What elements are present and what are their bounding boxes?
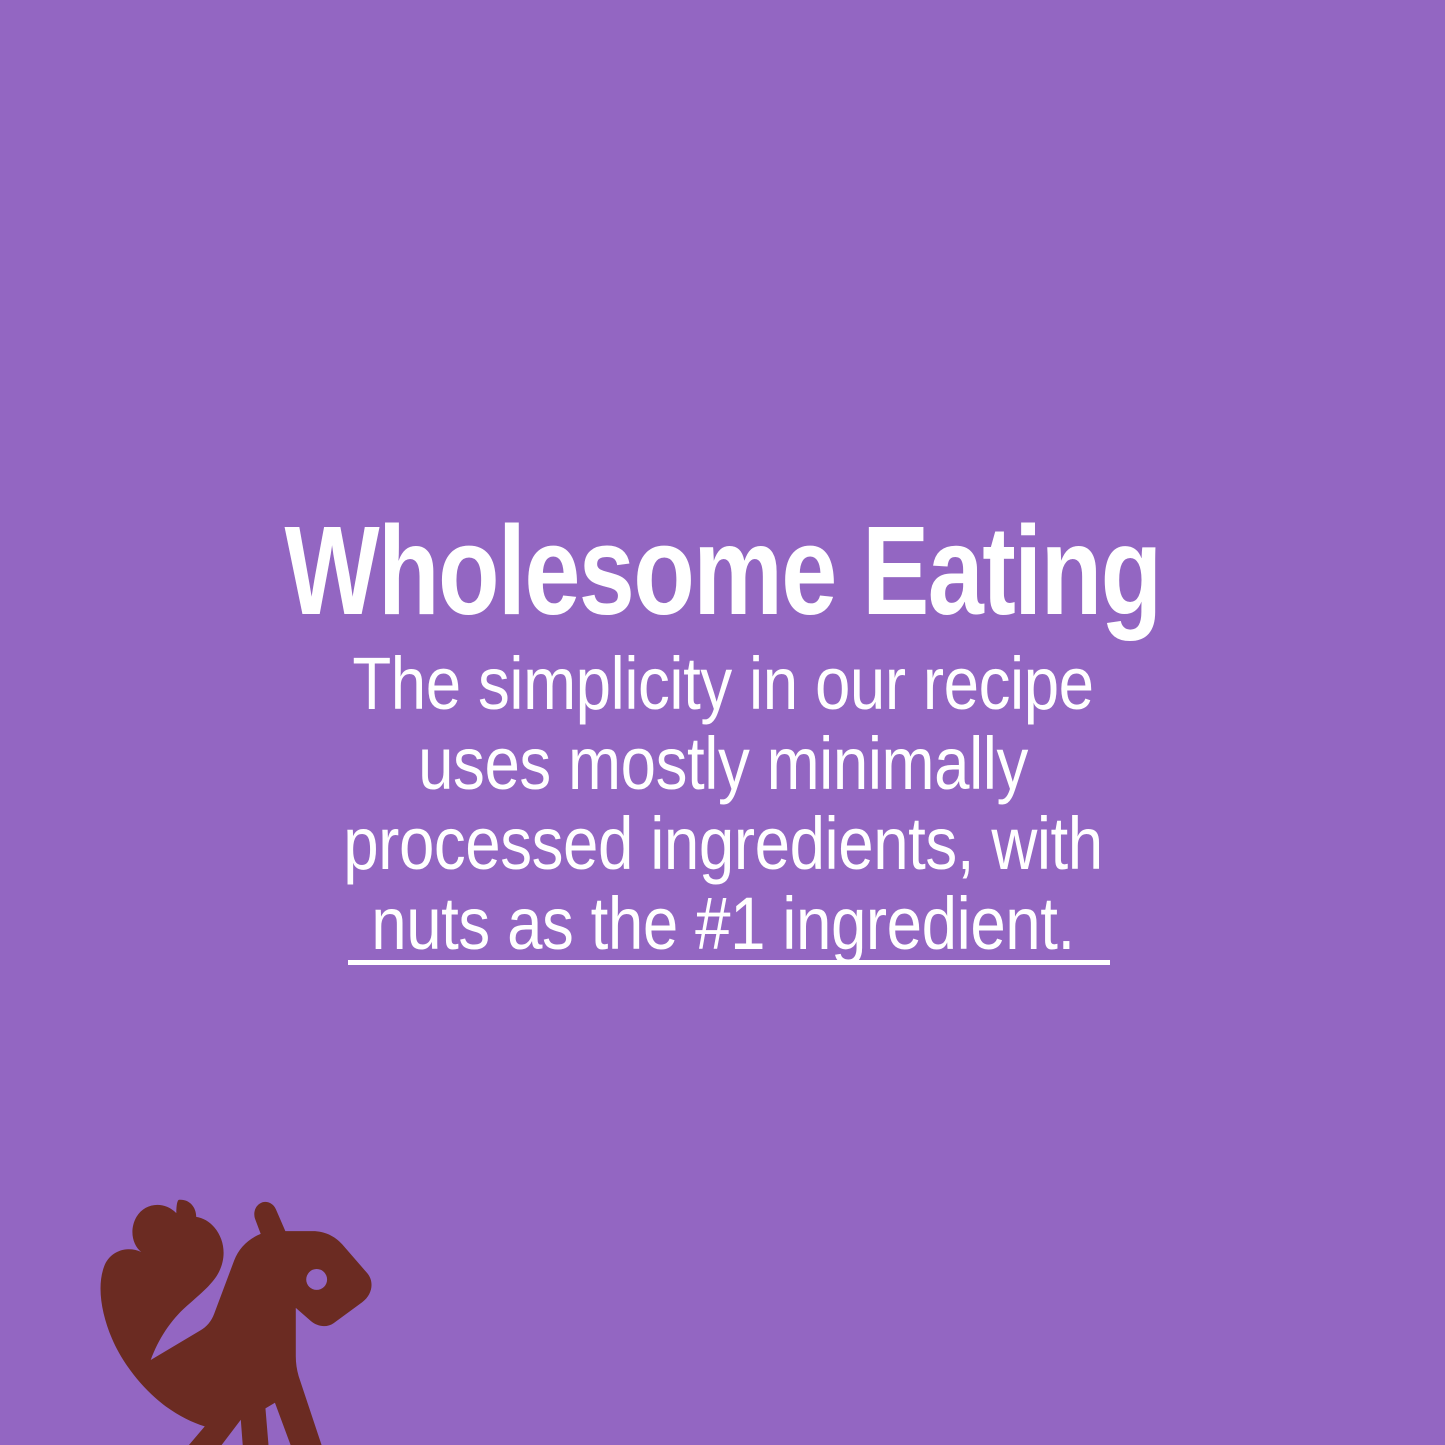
page-title: Wholesome Eating [145,508,1301,634]
promo-card: Wholesome Eating The simplicity in our r… [0,0,1445,1445]
body-line-1: The simplicity in our recipe [293,644,1153,724]
body-copy: The simplicity in our recipe uses mostly… [223,644,1223,964]
squirrel-icon [72,1196,402,1445]
body-line-3: processed ingredients, with [293,804,1153,884]
squirrel-eye [306,1269,327,1290]
body-line-2: uses mostly minimally [293,724,1153,804]
body-line-4: nuts as the #1 ingredient. [293,884,1153,964]
body-underline-rule [348,960,1110,965]
